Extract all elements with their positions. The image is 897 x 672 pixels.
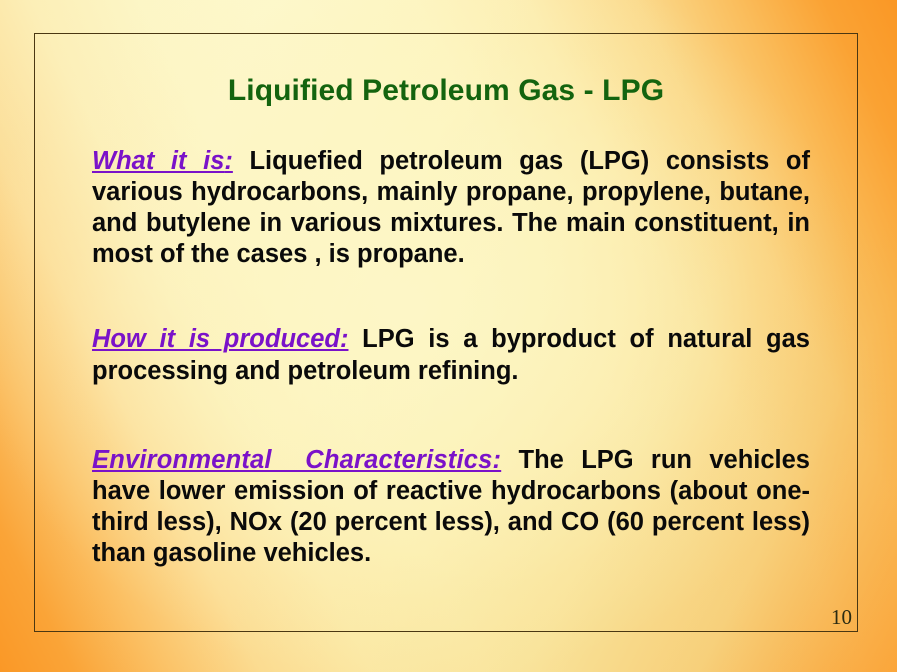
paragraph-lead-environmental-characteristics: Environmental Characteristics: <box>92 446 501 474</box>
paragraph-how-it-is-produced: How it is produced: LPG is a byproduct o… <box>92 324 810 386</box>
paragraph-lead-what-it-is: What it is: <box>92 147 233 175</box>
paragraph-lead-how-it-is-produced: How it is produced: <box>92 325 348 353</box>
slide: Liquified Petroleum Gas - LPG What it is… <box>0 0 897 672</box>
lead-text: How it is produced: <box>92 325 348 353</box>
page-number: 10 <box>831 605 852 630</box>
slide-content: Liquified Petroleum Gas - LPG What it is… <box>0 0 897 672</box>
lead-colon: : <box>224 147 233 175</box>
slide-body: What it is: Liquefied petroleum gas (LPG… <box>92 146 810 569</box>
lead-text: Environmental Characteristics: <box>92 446 501 474</box>
lead-text: What it is <box>92 147 224 175</box>
paragraph-environmental-characteristics: Environmental Characteristics: The LPG r… <box>92 445 810 569</box>
slide-title: Liquified Petroleum Gas - LPG <box>34 74 858 108</box>
paragraph-what-it-is: What it is: Liquefied petroleum gas (LPG… <box>92 146 810 270</box>
